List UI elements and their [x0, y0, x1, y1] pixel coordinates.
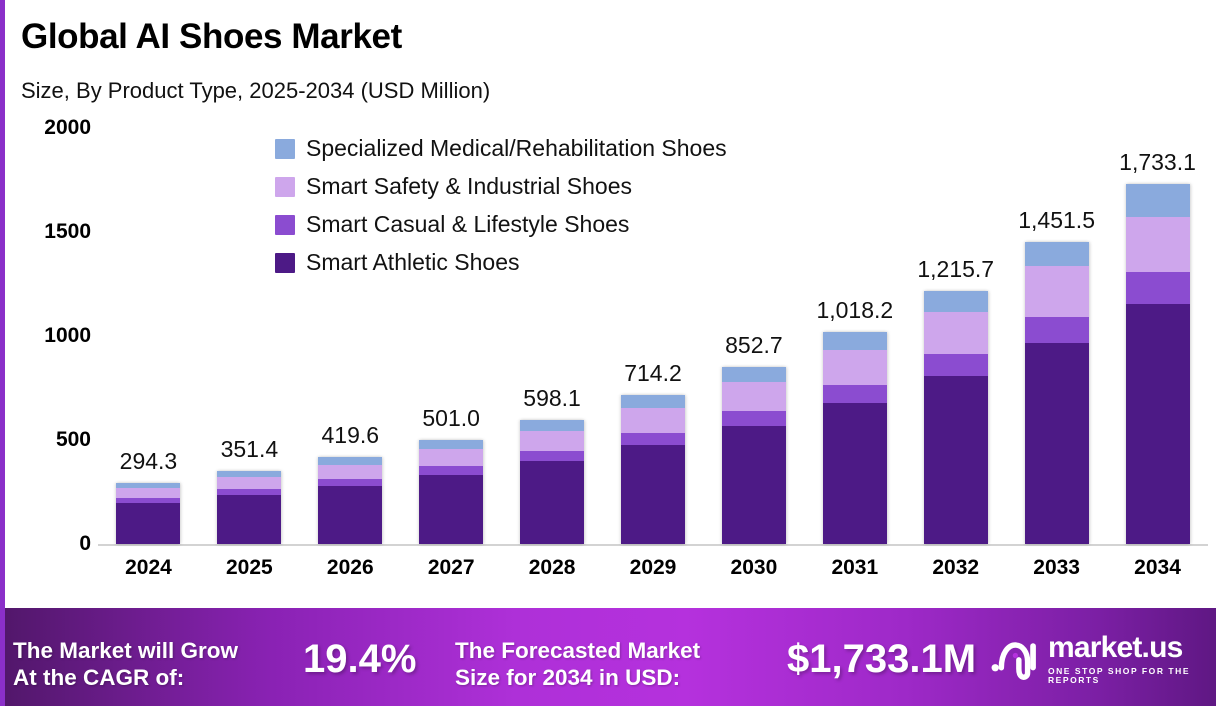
stacked-bar[interactable]: [318, 457, 382, 544]
legend-item[interactable]: Smart Safety & Industrial Shoes: [275, 173, 727, 200]
bar-segment[interactable]: [419, 449, 483, 466]
bar-segment[interactable]: [722, 367, 786, 382]
bar-segment[interactable]: [823, 403, 887, 544]
bar-segment[interactable]: [419, 475, 483, 544]
bar-group[interactable]: 351.4: [217, 431, 281, 544]
x-axis-tick-label: 2033: [1002, 556, 1112, 580]
x-axis-tick-label: 2029: [598, 556, 708, 580]
bar-segment[interactable]: [520, 420, 584, 431]
y-axis-tick-label: 2000: [19, 116, 91, 140]
x-axis-tick-label: 2026: [295, 556, 405, 580]
stacked-bar[interactable]: [823, 332, 887, 544]
stacked-bar[interactable]: [1025, 242, 1089, 544]
chart-page: Global AI Shoes Market Size, By Product …: [0, 0, 1216, 706]
bar-group[interactable]: 419.6: [318, 417, 382, 544]
market-us-logo[interactable]: market.us ONE STOP SHOP FOR THE REPORTS: [990, 633, 1216, 684]
bar-value-label: 1,451.5: [1018, 207, 1095, 234]
bar-segment[interactable]: [116, 488, 180, 498]
x-axis-tick-label: 2025: [194, 556, 304, 580]
y-axis-tick-label: 1500: [19, 220, 91, 244]
bar-group[interactable]: 1,215.7: [924, 251, 988, 544]
bar-segment[interactable]: [1126, 184, 1190, 218]
bar-segment[interactable]: [1025, 266, 1089, 317]
bar-segment[interactable]: [924, 354, 988, 376]
bar-segment[interactable]: [520, 461, 584, 544]
bar-segment[interactable]: [1126, 217, 1190, 272]
bar-segment[interactable]: [823, 385, 887, 403]
bar-group[interactable]: 294.3: [116, 443, 180, 544]
bar-group[interactable]: 1,733.1: [1126, 144, 1190, 544]
forecast-label-line2: Size for 2034 in USD:: [455, 664, 700, 691]
bar-segment[interactable]: [823, 350, 887, 385]
bar-segment[interactable]: [217, 477, 281, 489]
bar-value-label: 598.1: [523, 385, 581, 412]
x-axis-tick-label: 2032: [901, 556, 1011, 580]
bar-value-label: 419.6: [321, 422, 379, 449]
x-axis-tick-label: 2027: [396, 556, 506, 580]
stacked-bar[interactable]: [116, 483, 180, 544]
market-us-logo-icon: [990, 636, 1039, 682]
x-axis-baseline: [98, 544, 1208, 546]
y-axis-tick-label: 0: [19, 532, 91, 556]
forecast-value: $1,733.1M: [787, 637, 976, 682]
bar-group[interactable]: 501.0: [419, 400, 483, 544]
bar-value-label: 1,018.2: [816, 297, 893, 324]
bar-segment[interactable]: [1025, 242, 1089, 266]
legend-label: Smart Safety & Industrial Shoes: [306, 173, 632, 200]
bar-segment[interactable]: [217, 495, 281, 544]
bar-value-label: 1,733.1: [1119, 149, 1196, 176]
bar-group[interactable]: 598.1: [520, 380, 584, 544]
bar-segment[interactable]: [722, 426, 786, 544]
legend-label: Smart Athletic Shoes: [306, 249, 520, 276]
bar-segment[interactable]: [419, 440, 483, 449]
bar-value-label: 852.7: [725, 332, 783, 359]
bar-value-label: 714.2: [624, 360, 682, 387]
x-axis-tick-label: 2028: [497, 556, 607, 580]
plot-area: 0500100015002000 294.3351.4419.6501.0598…: [5, 0, 1216, 606]
cagr-label: The Market will Grow At the CAGR of:: [13, 637, 238, 691]
bar-segment[interactable]: [419, 466, 483, 475]
cagr-label-line1: The Market will Grow: [13, 637, 238, 664]
legend-swatch-icon: [275, 215, 295, 235]
bar-segment[interactable]: [318, 479, 382, 486]
stacked-bar[interactable]: [924, 291, 988, 544]
bar-segment[interactable]: [1126, 272, 1190, 304]
stacked-bar[interactable]: [621, 395, 685, 544]
legend-item[interactable]: Smart Casual & Lifestyle Shoes: [275, 211, 727, 238]
bar-segment[interactable]: [621, 433, 685, 446]
legend-label: Smart Casual & Lifestyle Shoes: [306, 211, 629, 238]
cagr-value: 19.4%: [303, 637, 416, 682]
bar-segment[interactable]: [924, 312, 988, 354]
forecast-label-line1: The Forecasted Market: [455, 637, 700, 664]
bottom-banner: The Market will Grow At the CAGR of: 19.…: [5, 608, 1216, 706]
bar-segment[interactable]: [1025, 317, 1089, 344]
bar-value-label: 294.3: [120, 448, 178, 475]
stacked-bar[interactable]: [520, 420, 584, 544]
bar-segment[interactable]: [520, 431, 584, 451]
x-axis-tick-label: 2030: [699, 556, 809, 580]
bar-segment[interactable]: [520, 451, 584, 461]
bar-segment[interactable]: [924, 291, 988, 312]
bar-segment[interactable]: [116, 503, 180, 544]
legend-label: Specialized Medical/Rehabilitation Shoes: [306, 135, 727, 162]
chart-legend: Specialized Medical/Rehabilitation Shoes…: [275, 135, 727, 276]
stacked-bar[interactable]: [419, 440, 483, 544]
legend-swatch-icon: [275, 139, 295, 159]
bar-segment[interactable]: [1126, 304, 1190, 544]
bar-group[interactable]: 1,018.2: [823, 292, 887, 544]
bar-value-label: 351.4: [221, 436, 279, 463]
bar-segment[interactable]: [823, 332, 887, 350]
bar-group[interactable]: 852.7: [722, 327, 786, 544]
logo-text-block: market.us ONE STOP SHOP FOR THE REPORTS: [1048, 633, 1216, 684]
legend-item[interactable]: Specialized Medical/Rehabilitation Shoes: [275, 135, 727, 162]
bar-segment[interactable]: [1025, 343, 1089, 544]
x-axis-tick-label: 2024: [93, 556, 203, 580]
bar-segment[interactable]: [621, 445, 685, 544]
stacked-bar[interactable]: [217, 471, 281, 544]
stacked-bar[interactable]: [722, 367, 786, 544]
legend-swatch-icon: [275, 253, 295, 273]
bar-value-label: 501.0: [422, 405, 480, 432]
bar-value-label: 1,215.7: [917, 256, 994, 283]
legend-item[interactable]: Smart Athletic Shoes: [275, 249, 727, 276]
bar-segment[interactable]: [621, 408, 685, 432]
x-axis-tick-label: 2034: [1103, 556, 1213, 580]
cagr-label-line2: At the CAGR of:: [13, 664, 238, 691]
logo-wordmark: market.us: [1048, 633, 1216, 663]
y-axis-tick-label: 500: [19, 428, 91, 452]
bar-segment[interactable]: [722, 382, 786, 411]
forecast-label: The Forecasted Market Size for 2034 in U…: [455, 637, 700, 691]
bar-group[interactable]: 1,451.5: [1025, 202, 1089, 544]
y-axis-tick-label: 1000: [19, 324, 91, 348]
x-axis-tick-label: 2031: [800, 556, 910, 580]
bar-segment[interactable]: [318, 457, 382, 465]
bar-segment[interactable]: [318, 486, 382, 544]
stacked-bar[interactable]: [1126, 184, 1190, 544]
bar-segment[interactable]: [722, 411, 786, 426]
bar-group[interactable]: 714.2: [621, 355, 685, 544]
bar-segment[interactable]: [924, 376, 988, 544]
bar-segment[interactable]: [318, 465, 382, 479]
bar-segment[interactable]: [621, 395, 685, 408]
logo-tagline: ONE STOP SHOP FOR THE REPORTS: [1048, 667, 1216, 684]
legend-swatch-icon: [275, 177, 295, 197]
